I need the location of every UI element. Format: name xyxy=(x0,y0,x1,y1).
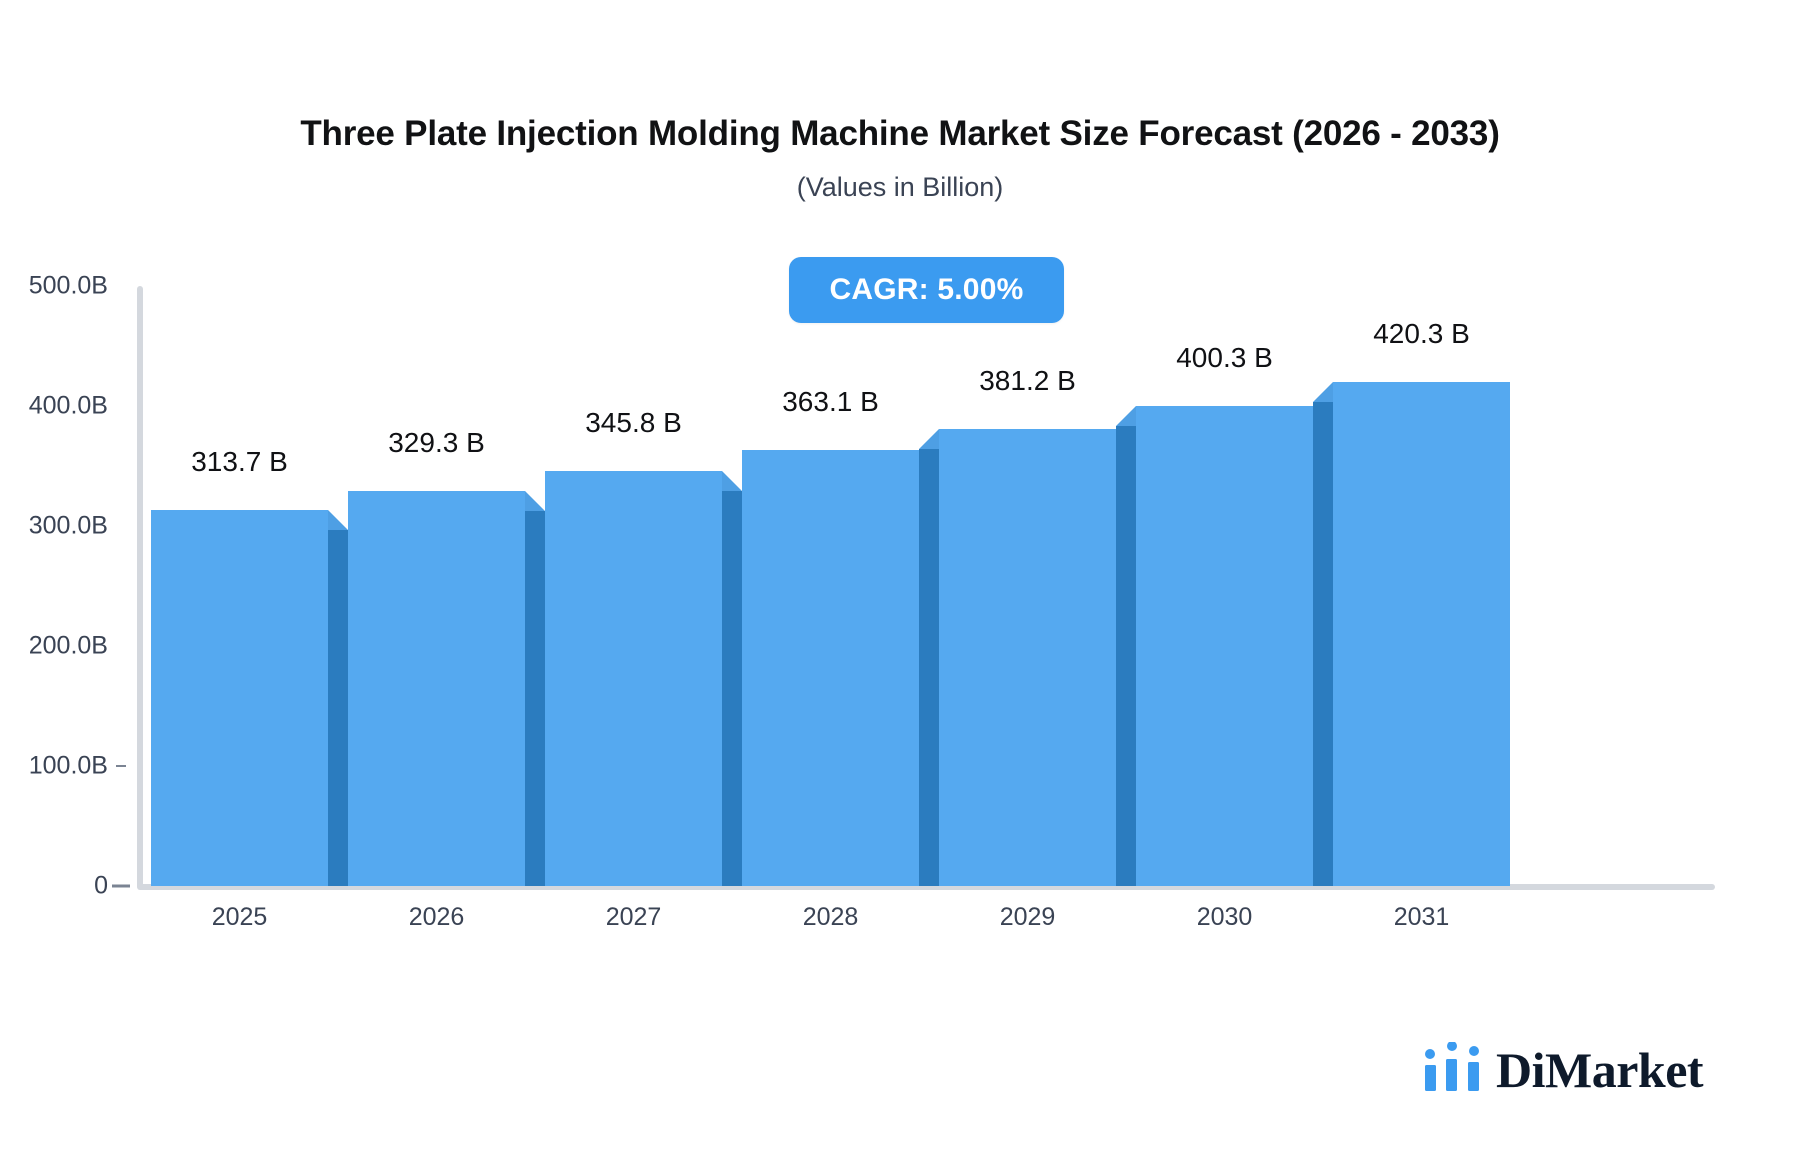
bar-2026[interactable] xyxy=(348,491,525,886)
bar-top-bevel xyxy=(1116,406,1136,426)
bar-front-face xyxy=(348,491,525,886)
bar-top-bevel xyxy=(525,491,545,511)
bar-top-bevel xyxy=(328,510,348,530)
y-axis-tick-mark xyxy=(112,885,130,888)
bar-chart-trend-icon xyxy=(1424,1042,1482,1097)
bar-side-face xyxy=(1116,426,1136,886)
dimarket-wordmark: DiMarket xyxy=(1496,1045,1703,1095)
bar-top-bevel xyxy=(919,429,939,449)
y-axis-tick-label: 0 xyxy=(0,872,108,901)
y-axis-tick-mark xyxy=(116,765,126,767)
bar-side-face xyxy=(328,530,348,886)
y-axis-line xyxy=(137,286,143,889)
bar-front-face xyxy=(939,429,1116,886)
y-axis-tick-label: 200.0B xyxy=(0,632,108,661)
bar-2031[interactable] xyxy=(1333,382,1510,886)
bar-front-face xyxy=(545,471,722,886)
bar-top-bevel xyxy=(722,471,742,491)
chart-page: Three Plate Injection Molding Machine Ma… xyxy=(0,0,1800,1156)
bar-front-face xyxy=(151,510,328,886)
dimarket-logo: DiMarket xyxy=(1424,1042,1703,1097)
bar-2030[interactable] xyxy=(1136,406,1313,886)
bar-side-face xyxy=(1313,402,1333,886)
y-axis-tick-label: 300.0B xyxy=(0,512,108,541)
bar-value-label: 420.3 B xyxy=(1272,318,1572,350)
y-axis-tick-label: 400.0B xyxy=(0,392,108,421)
y-axis-tick-label: 500.0B xyxy=(0,272,108,301)
bar-2029[interactable] xyxy=(939,429,1116,886)
bar-side-face xyxy=(919,449,939,886)
plot-area: 500.0B400.0B300.0B200.0B100.0B0 313.7 B3… xyxy=(0,0,1800,1156)
y-axis-tick-label: 100.0B xyxy=(0,752,108,781)
bar-front-face xyxy=(1333,382,1510,886)
x-axis-tick-label-2031: 2031 xyxy=(1272,903,1572,932)
bar-front-face xyxy=(742,450,919,886)
bar-front-face xyxy=(1136,406,1313,886)
bar-2027[interactable] xyxy=(545,471,722,886)
bar-2025[interactable] xyxy=(151,510,328,886)
bar-top-bevel xyxy=(1313,382,1333,402)
bar-side-face xyxy=(525,511,545,886)
bar-side-face xyxy=(722,491,742,886)
bar-2028[interactable] xyxy=(742,450,919,886)
